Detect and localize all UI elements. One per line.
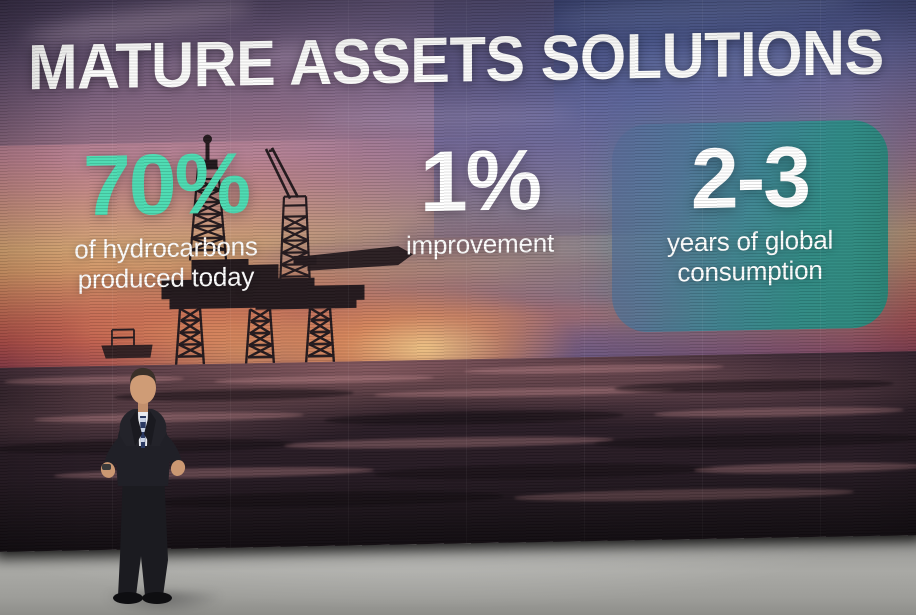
stage-scene: MATURE ASSETS SOLUTIONS 70% of hydrocarb… xyxy=(0,0,916,615)
presenter-figure xyxy=(0,0,916,615)
